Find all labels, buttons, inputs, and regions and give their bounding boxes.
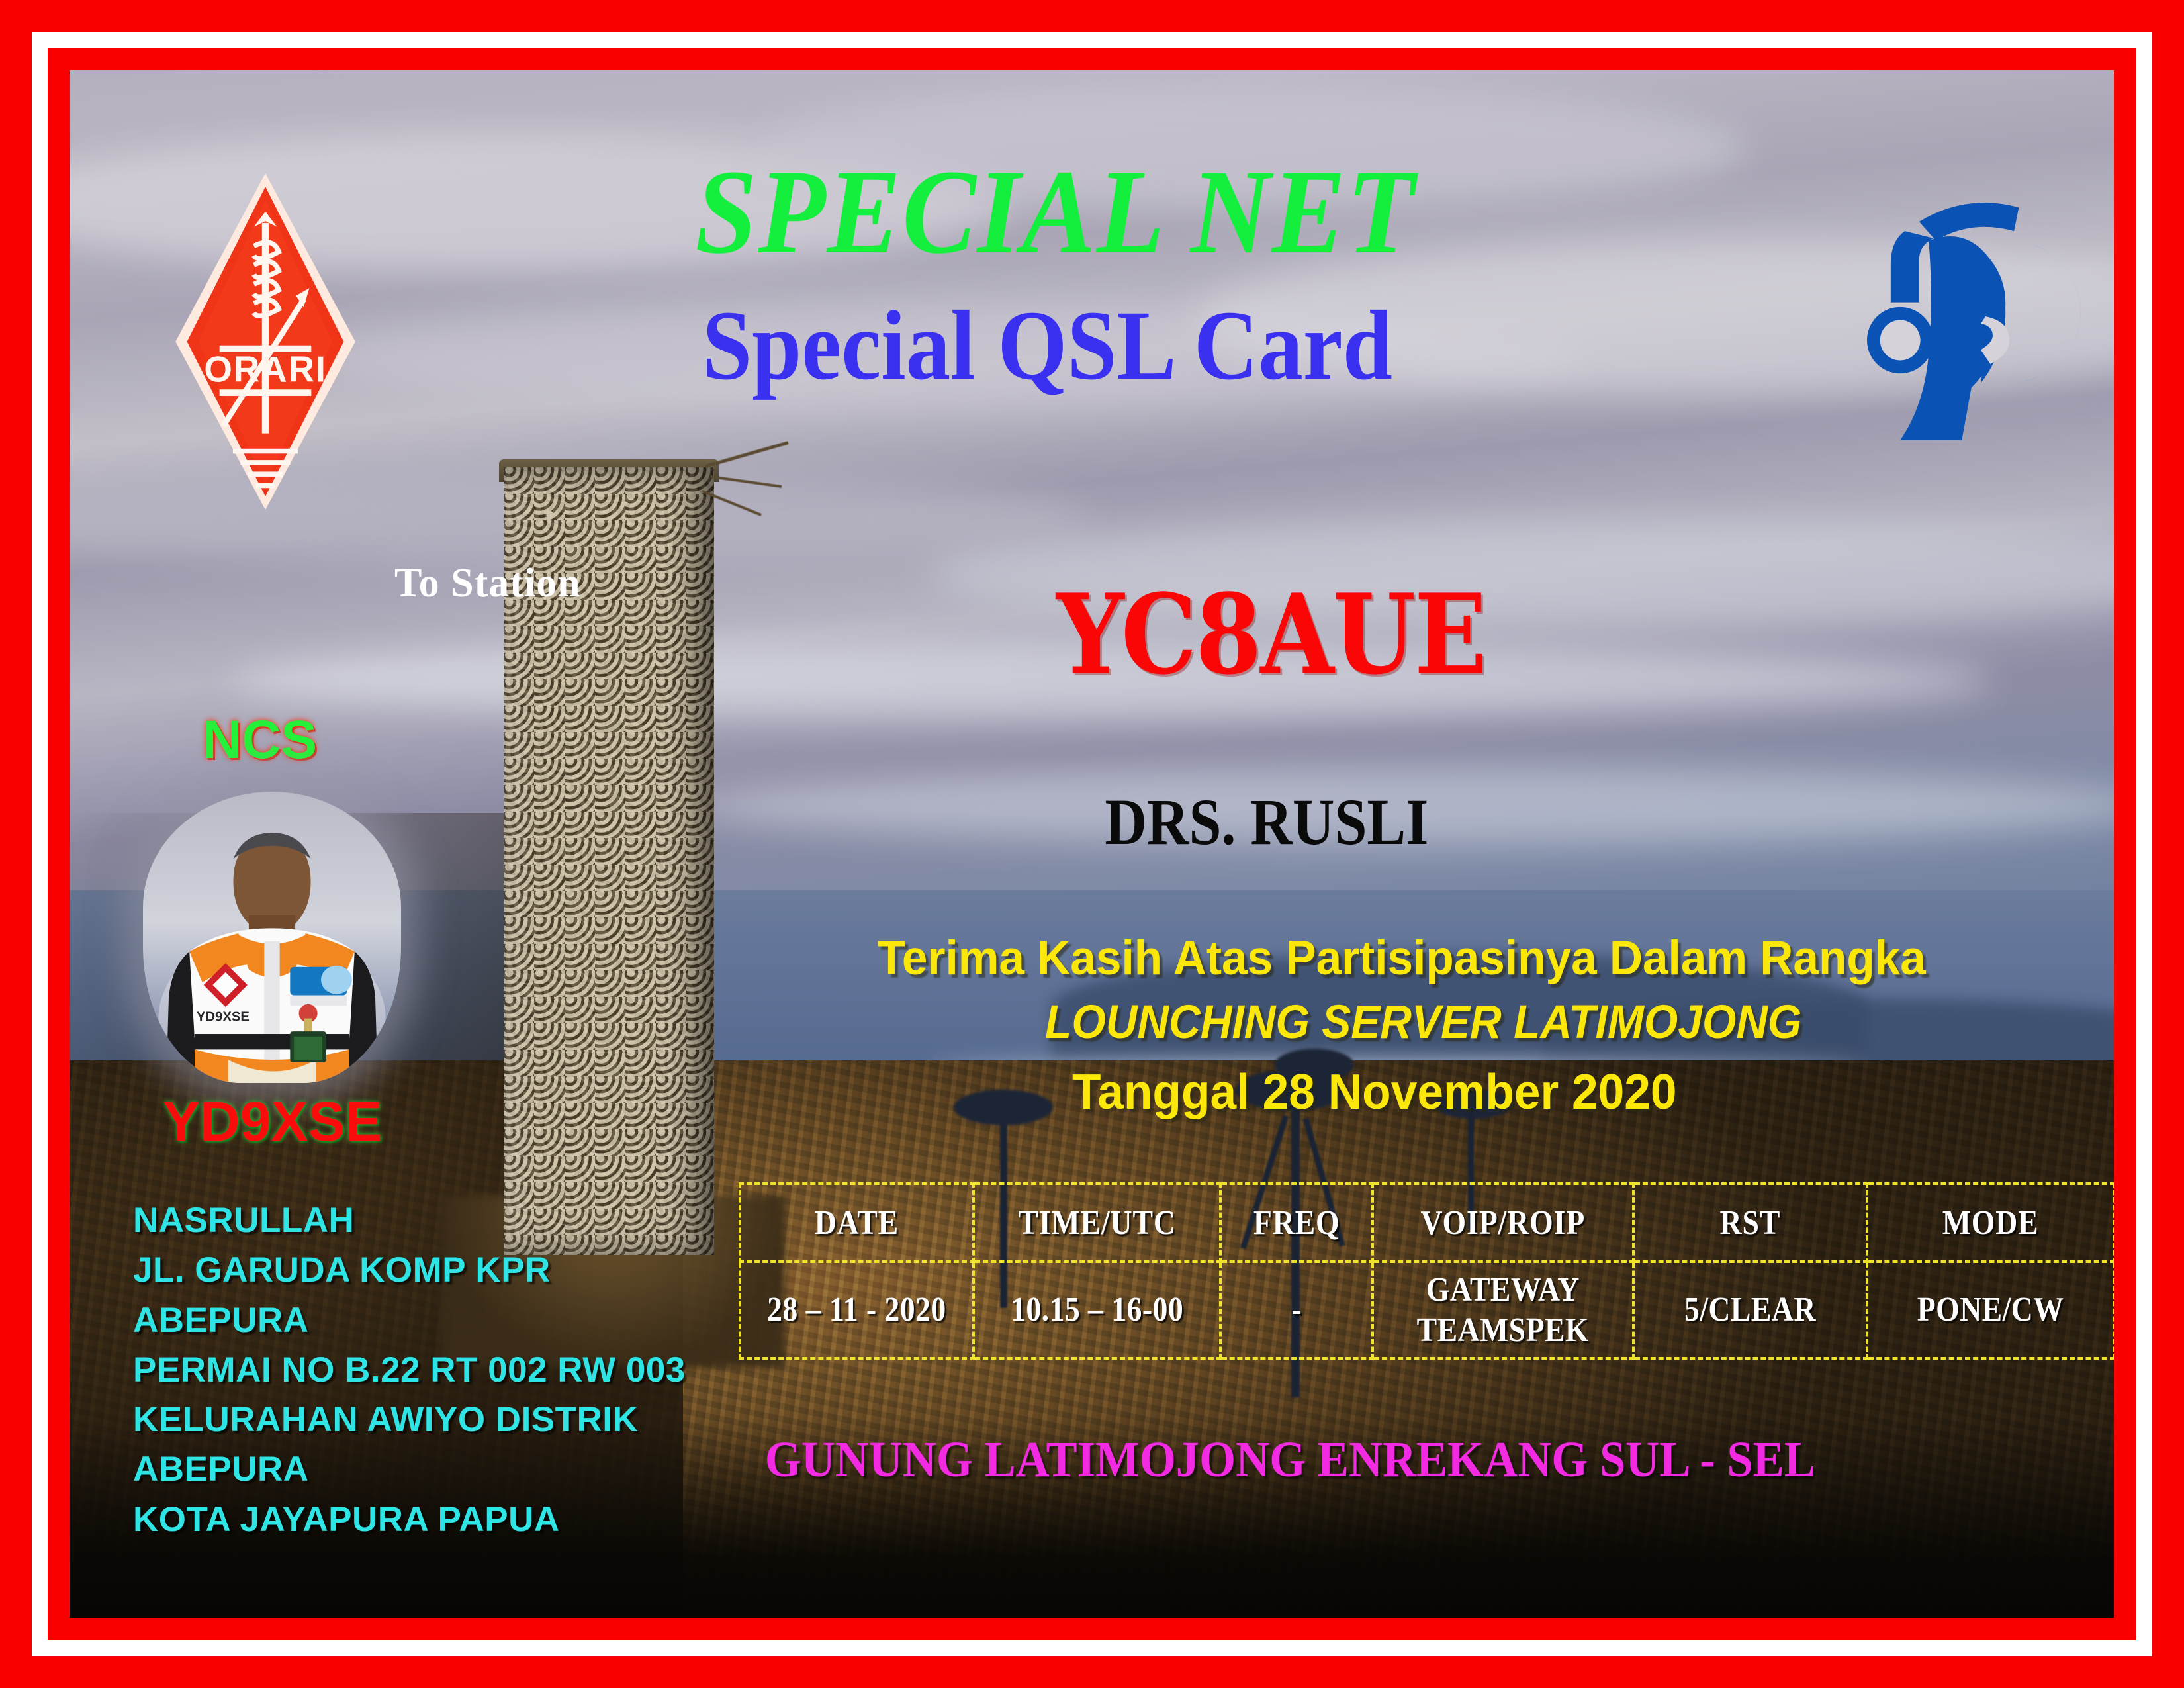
cell-voip-line1: GATEWAY xyxy=(1390,1270,1616,1310)
qso-log-table: DATE TIME/UTC FREQ VOIP/ROIP RST MODE 28… xyxy=(739,1182,2114,1360)
col-header-rst: RST xyxy=(1647,1184,1852,1262)
event-date-line: Tanggal 28 November 2020 xyxy=(1072,1063,1676,1120)
event-thanks-line: Terima Kasih Atas Partisipasinya Dalam R… xyxy=(878,931,1926,986)
address-line: JL. GARUDA KOMP KPR xyxy=(133,1245,729,1295)
ncs-callsign: YD9XSE xyxy=(163,1090,383,1154)
page-title-special-qsl-card: Special QSL Card xyxy=(172,289,2011,402)
address-line: ABEPURA xyxy=(133,1295,729,1345)
col-header-freq: FREQ xyxy=(1230,1184,1364,1262)
table-header-row: DATE TIME/UTC FREQ VOIP/ROIP RST MODE xyxy=(740,1184,2114,1262)
address-line: PERMAI NO B.22 RT 002 RW 003 xyxy=(133,1345,729,1395)
address-line: KELURAHAN AWIYO DISTRIK xyxy=(133,1395,729,1444)
address-line: KOTA JAYAPURA PAPUA xyxy=(133,1495,729,1544)
card-background-photo: ORARI xyxy=(70,70,2114,1618)
location-label: GUNUNG LATIMOJONG ENREKANG SUL - SEL xyxy=(765,1431,1815,1489)
col-header-time: TIME/UTC xyxy=(988,1184,1205,1262)
col-header-voip: VOIP/ROIP xyxy=(1388,1184,1617,1262)
cell-rst: 5/CLEAR xyxy=(1647,1262,1852,1358)
event-name-line: LOUNCHING SERVER LATIMOJONG xyxy=(1045,996,1801,1049)
to-station-label: To Station xyxy=(394,560,581,607)
cell-freq: - xyxy=(1230,1262,1364,1358)
tree-foliage xyxy=(954,1090,1053,1125)
cell-date: 28 – 11 - 2020 xyxy=(754,1262,959,1358)
page-title-special-net: SPECIAL NET xyxy=(152,143,2032,281)
svg-text:YD9XSE: YD9XSE xyxy=(197,1010,250,1025)
col-header-mode: MODE xyxy=(1882,1184,2099,1262)
station-callsign: YC8AUE xyxy=(1056,570,1485,699)
cell-voip: GATEWAY TEAMSPEK xyxy=(1388,1262,1617,1358)
cell-voip-line2: TEAMSPEK xyxy=(1390,1310,1616,1350)
cell-mode: PONE/CW xyxy=(1882,1262,2099,1358)
ncs-label: NCS xyxy=(203,709,317,771)
cell-time: 10.15 – 16-00 xyxy=(988,1262,1205,1358)
qsl-card: ORARI xyxy=(0,0,2184,1688)
operator-name: DRS. RUSLI xyxy=(1105,784,1428,860)
table-row: 28 – 11 - 2020 10.15 – 16-00 - GATEWAY T… xyxy=(740,1262,2114,1358)
address-line: NASRULLAH xyxy=(133,1196,729,1245)
station-address-block: NASRULLAH JL. GARUDA KOMP KPR ABEPURA PE… xyxy=(133,1196,729,1544)
col-header-date: DATE xyxy=(754,1184,959,1262)
address-line: ABEPURA xyxy=(133,1444,729,1494)
ncs-operator-photo: YD9XSE xyxy=(143,792,401,1083)
